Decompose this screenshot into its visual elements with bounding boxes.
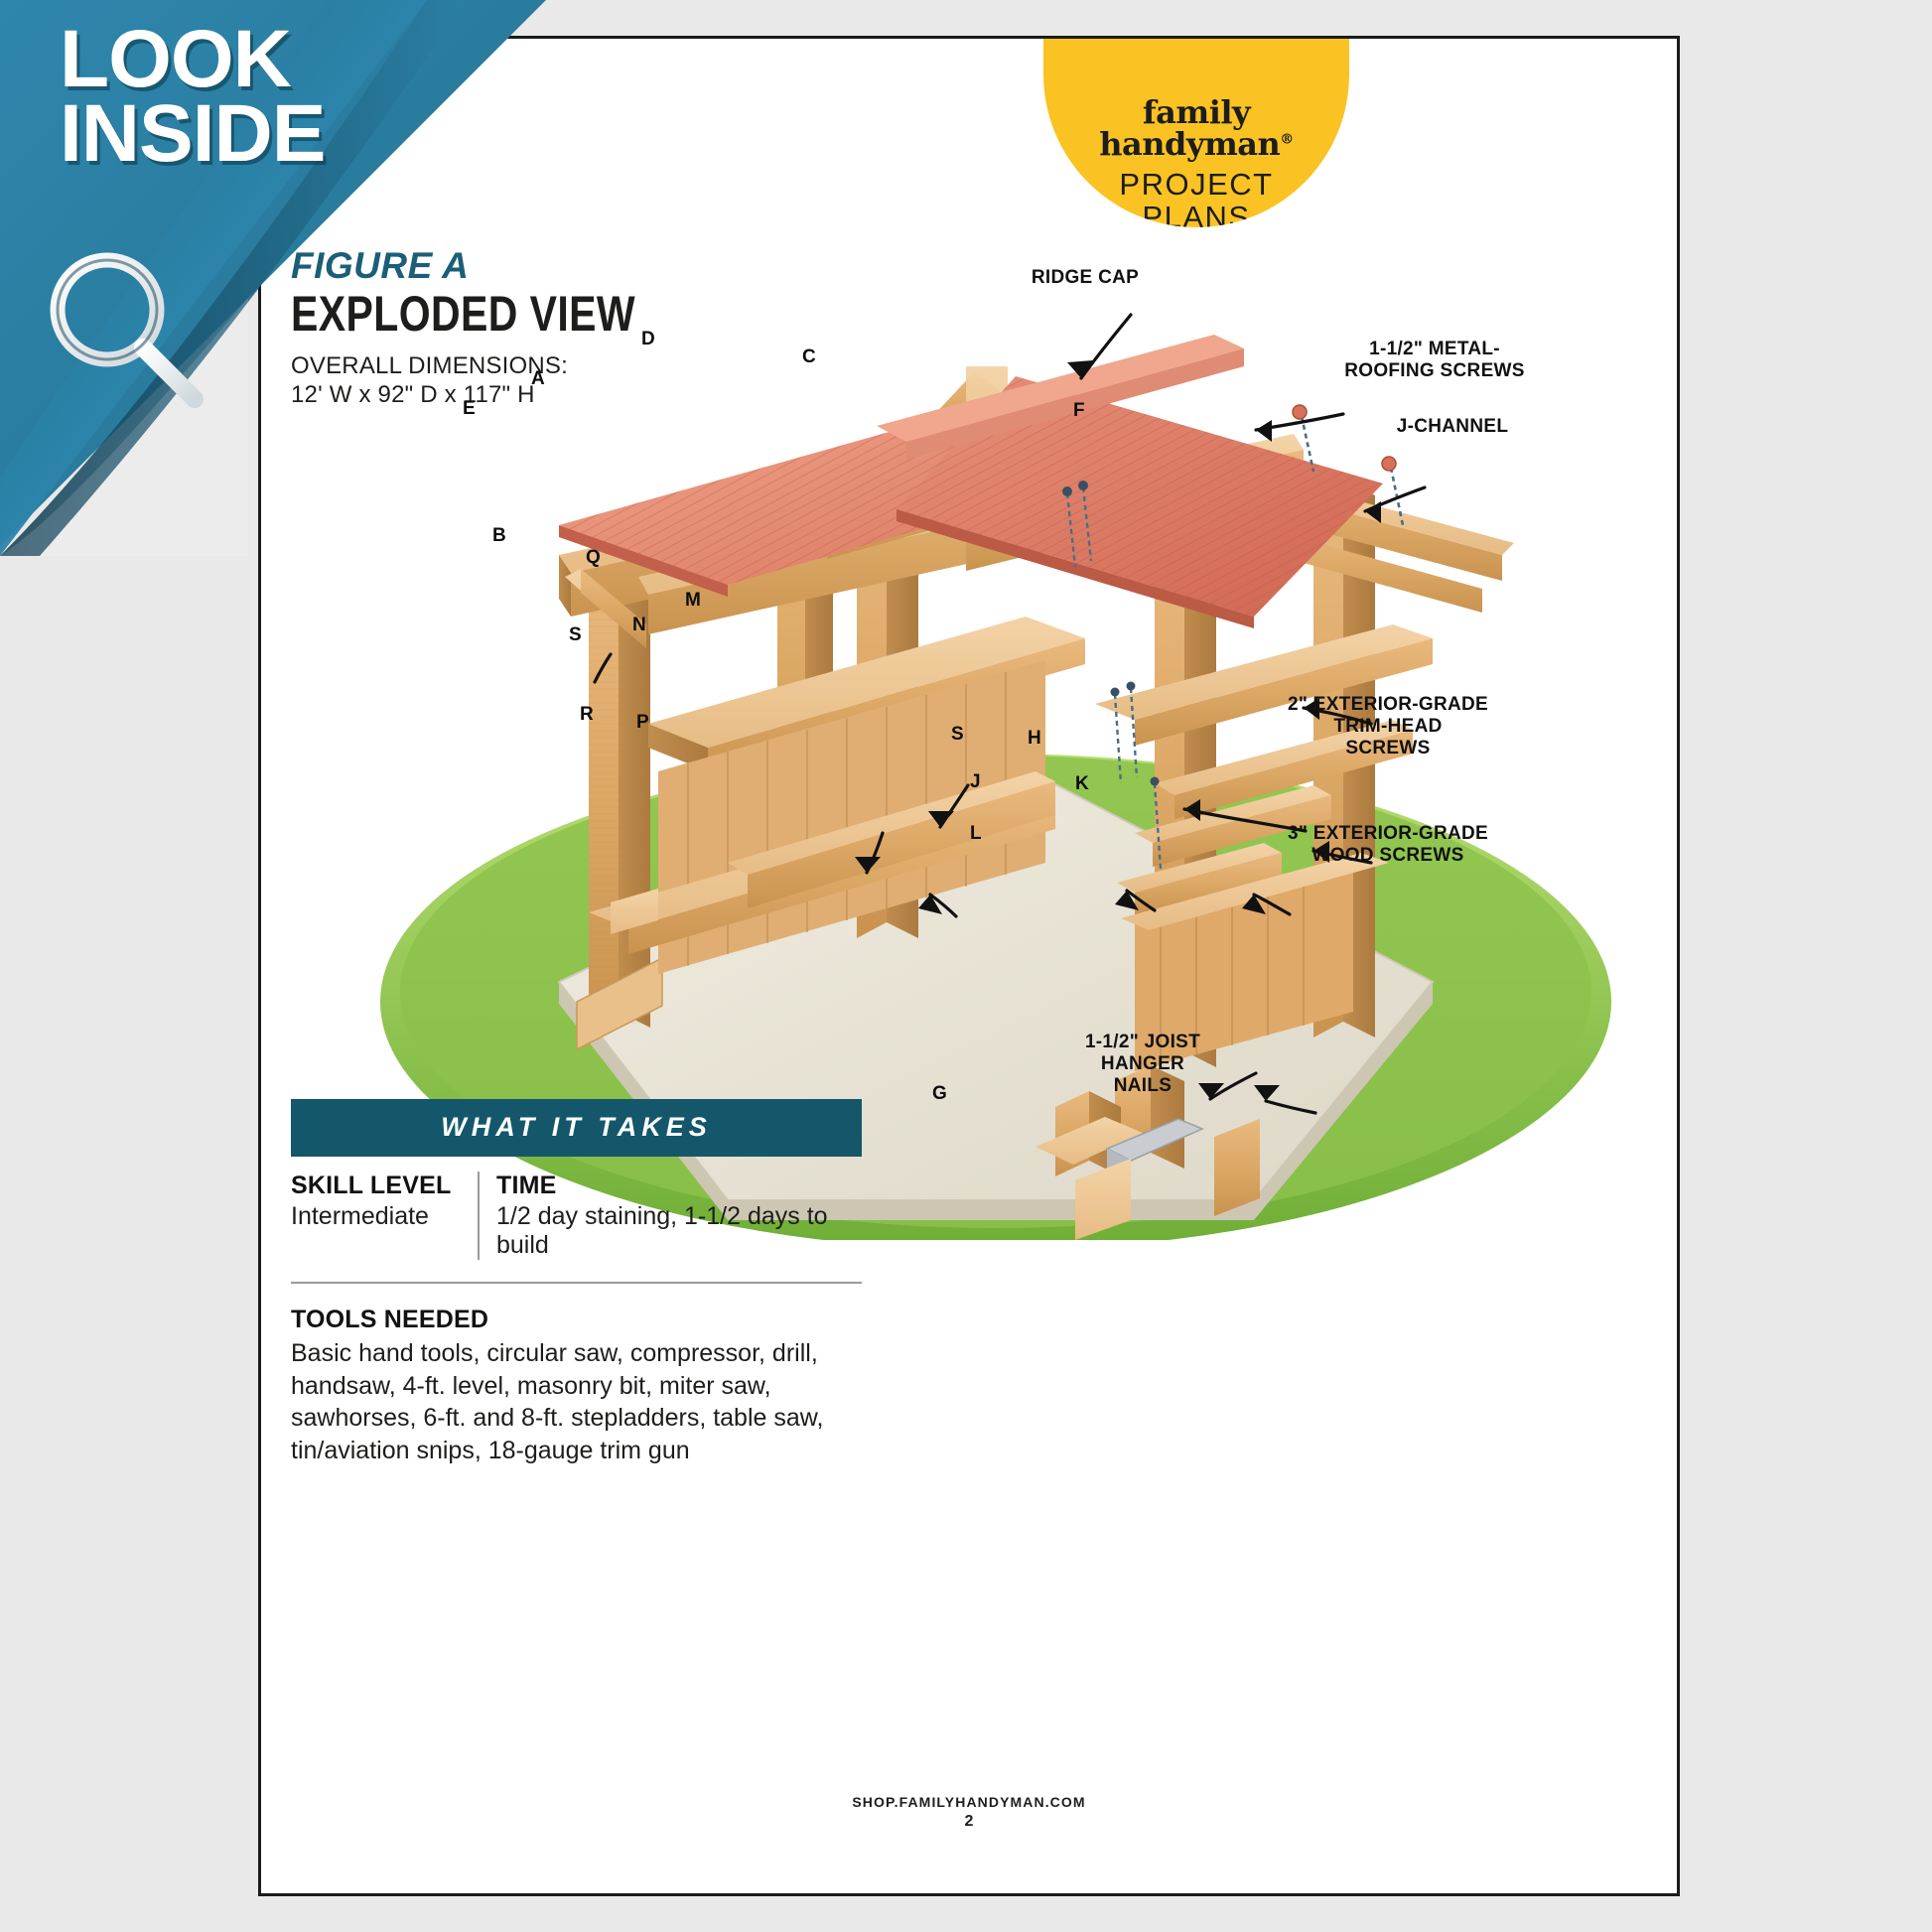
part-label-E: E <box>463 398 476 420</box>
part-label-A: A <box>531 368 545 390</box>
part-label-B: B <box>492 525 506 547</box>
badge-subtitle-line1: PROJECT <box>1043 169 1349 202</box>
part-label-N: N <box>632 615 646 636</box>
footer-url: SHOP.FAMILYHANDYMAN.COM <box>261 1794 1677 1810</box>
part-label-P: P <box>636 712 649 734</box>
time-label: TIME <box>496 1172 862 1200</box>
callout-joist-hanger-nails: 1-1/2" JOIST HANGER NAILS <box>1063 1032 1222 1097</box>
part-label-C: C <box>802 346 816 368</box>
tools-needed-value: Basic hand tools, circular saw, compress… <box>291 1337 862 1466</box>
what-it-takes-panel: WHAT IT TAKES SKILL LEVEL Intermediate T… <box>291 1099 862 1466</box>
peel-underside <box>0 298 248 556</box>
part-label-D: D <box>641 329 655 350</box>
part-label-S-right: S <box>951 724 964 746</box>
brand-name: family handyman® <box>1043 96 1349 160</box>
brand-badge: family handyman® PROJECT PLANS <box>1043 39 1349 227</box>
skill-level-value: Intermediate <box>291 1202 464 1231</box>
part-label-J: J <box>970 771 981 793</box>
tools-needed-label: TOOLS NEEDED <box>291 1306 862 1334</box>
callout-j-channel: J-CHANNEL <box>1348 416 1557 438</box>
part-label-K: K <box>1075 773 1089 795</box>
time-value: 1/2 day staining, 1-1/2 days to build <box>496 1202 862 1260</box>
part-label-H: H <box>1028 728 1041 750</box>
badge-subtitle-line2: PLANS <box>1043 202 1349 227</box>
tools-needed-block: TOOLS NEEDED Basic hand tools, circular … <box>291 1306 862 1466</box>
part-label-F: F <box>1073 400 1085 422</box>
part-label-Q: Q <box>586 547 601 569</box>
callout-ridge-cap: RIDGE CAP <box>996 267 1174 289</box>
callout-trim-head-screws: 2" EXTERIOR-GRADE TRIM-HEAD SCREWS <box>1254 694 1522 759</box>
skill-level-column: SKILL LEVEL Intermediate <box>291 1172 478 1260</box>
magnifier-icon <box>58 260 195 399</box>
badge-subtitle: PROJECT PLANS <box>1043 169 1349 227</box>
part-label-L: L <box>970 823 982 845</box>
divider <box>291 1282 862 1284</box>
page-number: 2 <box>261 1813 1677 1831</box>
callout-wood-screws: 3" EXTERIOR-GRADE WOOD SCREWS <box>1254 823 1522 867</box>
part-label-R: R <box>580 704 594 726</box>
time-column: TIME 1/2 day staining, 1-1/2 days to bui… <box>478 1172 862 1260</box>
part-label-S-left: S <box>569 624 582 646</box>
callout-metal-roofing-screws: 1-1/2" METAL- ROOFING SCREWS <box>1315 339 1554 382</box>
what-it-takes-heading: WHAT IT TAKES <box>291 1099 862 1157</box>
registered-mark: ® <box>1280 131 1294 147</box>
part-label-M: M <box>685 590 701 612</box>
plan-page: family handyman® PROJECT PLANS FIGURE A … <box>258 36 1680 1896</box>
page-footer: SHOP.FAMILYHANDYMAN.COM 2 <box>261 1794 1677 1831</box>
part-label-G: G <box>932 1083 947 1105</box>
skill-level-label: SKILL LEVEL <box>291 1172 464 1200</box>
